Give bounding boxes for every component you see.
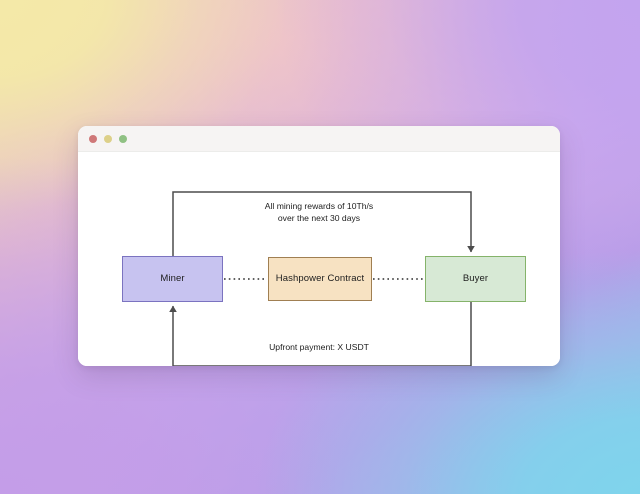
node-hashpower-contract[interactable]: Hashpower Contract xyxy=(268,257,372,301)
node-hashpower-contract-label: Hashpower Contract xyxy=(276,273,364,284)
node-miner-label: Miner xyxy=(160,273,184,284)
node-miner[interactable]: Miner xyxy=(122,256,223,302)
minimize-button[interactable] xyxy=(104,135,112,143)
maximize-button[interactable] xyxy=(119,135,127,143)
app-window: Miner Hashpower Contract Buyer All minin… xyxy=(78,126,560,366)
window-title-bar xyxy=(78,126,560,152)
edge-label-payment-line1: Upfront payment: X USDT xyxy=(78,341,560,353)
edge-payment-path xyxy=(173,302,471,366)
edge-label-rewards-line1: All mining rewards of 10Th/s xyxy=(78,200,560,212)
edge-label-payment: Upfront payment: X USDT xyxy=(78,341,560,353)
node-buyer[interactable]: Buyer xyxy=(425,256,526,302)
diagram-canvas: Miner Hashpower Contract Buyer All minin… xyxy=(78,152,560,366)
edge-label-rewards: All mining rewards of 10Th/s over the ne… xyxy=(78,200,560,225)
edge-label-rewards-line2: over the next 30 days xyxy=(78,212,560,224)
close-button[interactable] xyxy=(89,135,97,143)
node-buyer-label: Buyer xyxy=(463,273,488,284)
